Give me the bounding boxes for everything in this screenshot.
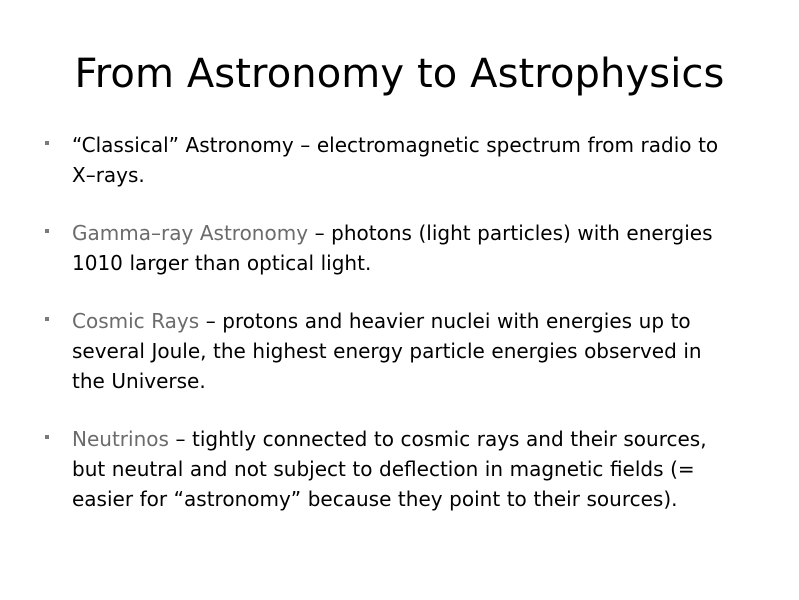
list-item[interactable]: Gamma–ray Astronomy – photons (light par… [40, 218, 740, 278]
list-item-lead-term: “Classical” Astronomy [72, 133, 294, 157]
bullet-point-icon [45, 317, 49, 321]
bullet-point-icon [45, 229, 49, 233]
list-item[interactable]: “Classical” Astronomy – electromagnetic … [40, 130, 740, 190]
list-item-text: Neutrinos – tightly connected to cosmic … [72, 424, 740, 514]
list-item[interactable]: Neutrinos – tightly connected to cosmic … [40, 424, 740, 514]
slide-title: From Astronomy to Astrophysics [60, 49, 739, 99]
list-item-text: “Classical” Astronomy – electromagnetic … [72, 130, 740, 190]
bullet-point-icon [45, 435, 49, 439]
presentation-slide: From Astronomy to Astrophysics “Classica… [0, 0, 799, 600]
list-item-text: Gamma–ray Astronomy – photons (light par… [72, 218, 740, 278]
list-item-lead-term: Gamma–ray Astronomy [72, 221, 308, 245]
list-item[interactable]: Cosmic Rays – protons and heavier nuclei… [40, 306, 740, 396]
bullet-point-icon [45, 141, 49, 145]
list-item-text: Cosmic Rays – protons and heavier nuclei… [72, 306, 740, 396]
list-item-lead-term: Neutrinos [72, 427, 169, 451]
bullet-list: “Classical” Astronomy – electromagnetic … [40, 130, 740, 514]
list-item-lead-term: Cosmic Rays [72, 309, 199, 333]
